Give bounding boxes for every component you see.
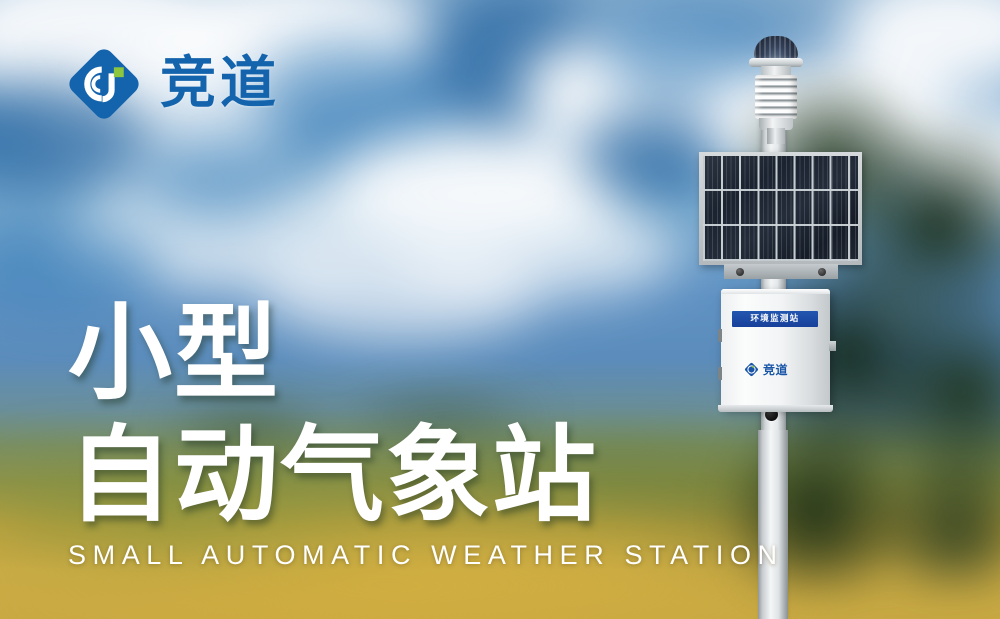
headline-line-1: 小型 xyxy=(68,296,598,410)
weather-station-banner: 环境监测站 竞道 xyxy=(0,0,1000,619)
headline-line-2: 自动气象站 xyxy=(68,418,598,532)
brand-name: 竞道 xyxy=(160,56,280,112)
brand-logo[interactable]: 竞道 xyxy=(66,46,280,122)
headline-block: 小型 自动气象站 xyxy=(68,296,598,533)
jingdao-diamond-logo-icon xyxy=(66,46,142,122)
tree-background-right xyxy=(700,70,1000,590)
subtitle-english: SMALL AUTOMATIC WEATHER STATION xyxy=(68,540,784,571)
